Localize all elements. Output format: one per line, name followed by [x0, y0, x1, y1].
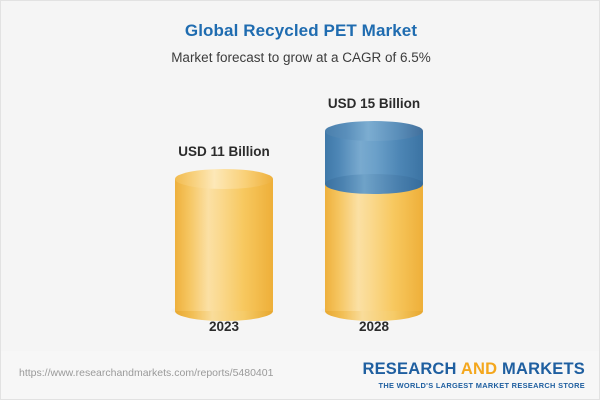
cylinder-top-ellipse	[175, 169, 273, 189]
bar-category-label: 2023	[149, 319, 299, 334]
bar-segment-base-2023[interactable]	[175, 169, 273, 311]
chart-card: Global Recycled PET Market Market foreca…	[0, 0, 600, 400]
cylinder-body	[175, 179, 273, 311]
cylinder-body	[325, 184, 423, 311]
brand-word-and: AND	[461, 360, 497, 378]
brand-word-research: RESEARCH	[362, 360, 456, 378]
brand-logo-text: RESEARCH AND MARKETS	[362, 360, 585, 379]
bar-segment-growth-2028[interactable]	[325, 121, 423, 184]
bar-category-label: 2028	[299, 319, 449, 334]
brand-word-markets: MARKETS	[502, 360, 585, 378]
cylinder-bottom-ellipse	[325, 174, 423, 194]
bar-value-label: USD 15 Billion	[299, 96, 449, 111]
chart-footer: https://www.researchandmarkets.com/repor…	[1, 351, 600, 399]
bar-segment-base-2028[interactable]	[325, 184, 423, 311]
report-url[interactable]: https://www.researchandmarkets.com/repor…	[19, 367, 273, 379]
bar-value-label: USD 11 Billion	[149, 144, 299, 159]
chart-plot-area: USD 11 Billion 2023 USD 15 Billion	[1, 1, 600, 351]
brand-tagline: THE WORLD'S LARGEST MARKET RESEARCH STOR…	[362, 381, 585, 390]
brand-logo[interactable]: RESEARCH AND MARKETS THE WORLD'S LARGEST…	[362, 360, 585, 390]
cylinder-top-ellipse	[325, 121, 423, 141]
